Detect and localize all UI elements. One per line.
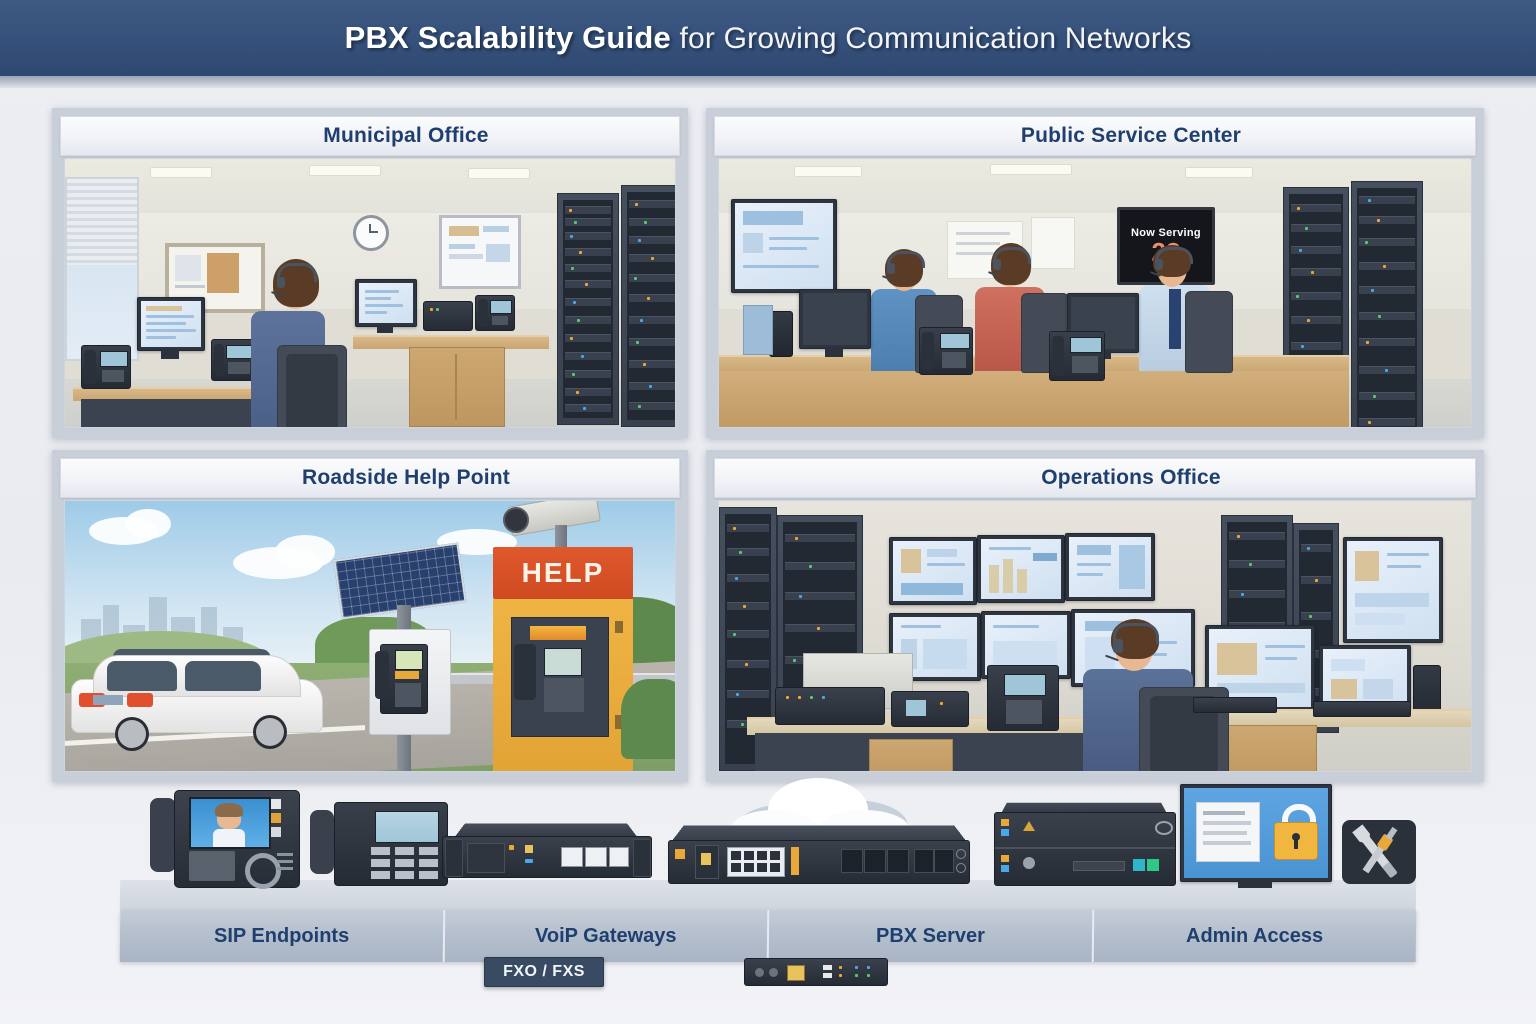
panel-municipal-office-header: Municipal Office (60, 116, 680, 156)
page-header: PBX Scalability Guide for Growing Commun… (0, 0, 1536, 76)
panel-operations-office-title: Operations Office (1041, 466, 1221, 490)
infographic-canvas: PBX Scalability Guide for Growing Commun… (0, 0, 1536, 1024)
operator-ip-phone (987, 665, 1059, 731)
ip-phone (81, 345, 131, 389)
car-taillight (127, 693, 153, 707)
appliance-port (787, 965, 805, 981)
phone-lcd (375, 811, 439, 843)
office-chair (277, 345, 347, 428)
monitor-stand (377, 325, 393, 333)
ceiling-light (990, 164, 1072, 175)
monitor-stand (161, 349, 179, 359)
cloud-icon (125, 509, 171, 539)
help-kiosk-sign: HELP (493, 547, 633, 599)
kiosk-vent (615, 621, 623, 633)
monitor-stand (825, 347, 843, 357)
legend-bar: SIP Endpoints VoiP Gateways PBX Server A… (120, 910, 1417, 962)
page-title-bold: PBX Scalability Guide (345, 20, 671, 55)
desktop-gateway (423, 301, 473, 331)
rack-interior (627, 192, 676, 420)
desktop-gateway (891, 691, 969, 727)
cloud-icon (275, 535, 335, 569)
monitor-screen (893, 541, 973, 601)
gateway-port (585, 847, 607, 867)
pbx-port (914, 849, 934, 873)
desktop-gateway (775, 687, 885, 725)
wall-monitor (1343, 537, 1443, 643)
ceiling-light (1185, 167, 1253, 178)
ip-phone (1049, 331, 1105, 381)
admin-monitor-frame (1180, 784, 1332, 882)
headset-earcup (1155, 259, 1163, 270)
panel-public-service-center-header: Public Service Center (714, 116, 1476, 156)
phone-video-screen (189, 797, 271, 849)
monitor-stand (1238, 880, 1272, 888)
header-underline (0, 76, 1536, 88)
panel-roadside-help-point-header: Roadside Help Point (60, 458, 680, 498)
panel-municipal-office: Municipal Office (52, 108, 688, 438)
legend-item-admin-access[interactable]: Admin Access (1093, 910, 1416, 962)
server-rack (1351, 181, 1423, 428)
ceiling-light (150, 167, 212, 178)
phone-navigation-ring (245, 853, 281, 889)
phone-chassis (334, 802, 448, 886)
warning-icon (1023, 821, 1035, 831)
wall-monitor (977, 535, 1065, 603)
phone-keypad (371, 847, 439, 879)
ip-phone (919, 327, 973, 375)
panel-public-service-center-title: Public Service Center (1021, 124, 1241, 148)
back-monitor (355, 279, 417, 327)
window-blinds (67, 179, 137, 265)
agent-3-necktie (1169, 289, 1181, 349)
kiosk-keypad (544, 678, 584, 712)
kiosk-handset (514, 644, 536, 700)
call-box-phone (380, 644, 428, 714)
office-chair (1185, 291, 1233, 373)
panel-operations-office: Operations Office (706, 450, 1484, 782)
pbx-appliance-small (744, 958, 888, 986)
help-kiosk: HELP (493, 547, 633, 772)
legend-label-sip-endpoints: SIP Endpoints (214, 925, 349, 948)
agent-monitor (799, 289, 871, 349)
keyboard (1193, 697, 1277, 713)
panel-roadside-help-point-title: Roadside Help Point (302, 466, 510, 490)
monitor-screen (1069, 537, 1151, 597)
wall-clock (353, 215, 389, 251)
legend-item-voip-gateways[interactable]: VoiP Gateways (444, 910, 769, 962)
gateway-port (609, 847, 629, 867)
car-rear-window (107, 661, 177, 691)
pbx-port (934, 849, 954, 873)
desk-cabinet (409, 347, 505, 427)
rack-interior (1357, 188, 1417, 428)
admin-server-chassis (994, 812, 1176, 886)
car-wheel (115, 717, 149, 751)
monitor-screen (803, 293, 867, 345)
monitor-screen (981, 539, 1061, 599)
device-row (120, 780, 1416, 885)
panel-operations-office-header: Operations Office (714, 458, 1476, 498)
server-rack (557, 193, 619, 425)
ceiling-light (309, 165, 381, 176)
monitor-screen (359, 283, 413, 323)
wall-poster (439, 215, 521, 289)
server-rack (621, 185, 676, 427)
admin-server (994, 802, 1174, 886)
admin-monitor-screen (1184, 788, 1328, 878)
file-holder (743, 305, 773, 355)
rack-interior (563, 200, 613, 418)
parked-car (71, 635, 321, 753)
pbx-server-appliance (668, 824, 968, 888)
help-kiosk-label: HELP (522, 557, 605, 589)
fxo-fxs-badge-label: FXO / FXS (503, 963, 585, 981)
wrench-screwdriver-icon (1342, 816, 1416, 888)
pbx-ethernet-bank (727, 847, 785, 877)
voip-gateway-appliance (442, 822, 650, 884)
scene-operations-office (718, 500, 1472, 772)
fxo-fxs-badge: FXO / FXS (484, 957, 604, 987)
ip-phone (475, 295, 515, 331)
wall-notice (1031, 217, 1075, 269)
camera-lens (503, 507, 529, 533)
headset-earcup (887, 263, 895, 274)
wall-display-screen (735, 203, 833, 289)
pbx-port (864, 849, 886, 873)
panel-roadside-help-point: Roadside Help Point (52, 450, 688, 782)
workstation-monitor (137, 297, 205, 351)
emergency-call-box (369, 629, 451, 735)
scene-roadside-help-point: HELP (64, 500, 676, 772)
help-kiosk-phone-bay (511, 617, 609, 737)
video-ip-phone (150, 786, 300, 886)
page-title-light: for Growing Communication Networks (671, 22, 1192, 55)
car-wheel (253, 715, 287, 749)
monitor-screen (1347, 541, 1439, 639)
phone-keypad (189, 851, 235, 881)
pbx-port (841, 849, 863, 873)
phone-handset (150, 798, 176, 872)
page-title: PBX Scalability Guide for Growing Commun… (345, 20, 1192, 56)
legend-label-pbx-server: PBX Server (876, 925, 985, 948)
ceiling-light (468, 168, 530, 179)
wall-monitor (1065, 533, 1155, 601)
gateway-port (561, 847, 583, 867)
legend-item-pbx-server[interactable]: PBX Server (769, 910, 1094, 962)
kiosk-display (544, 648, 582, 676)
headset-earcup (277, 277, 285, 288)
standard-ip-phone (310, 802, 450, 888)
panel-municipal-office-title: Municipal Office (323, 124, 488, 148)
phone-chassis (174, 790, 300, 888)
counter-front (719, 371, 1349, 428)
wall-display (731, 199, 837, 293)
phone-handset (310, 810, 334, 874)
headset-earcup (1113, 639, 1123, 653)
document-icon (1196, 802, 1260, 862)
legend-item-sip-endpoints[interactable]: SIP Endpoints (120, 910, 445, 962)
bush (621, 679, 676, 759)
scene-municipal-office (64, 158, 676, 428)
license-plate (93, 695, 123, 705)
headset-earcup (993, 259, 1001, 270)
admin-monitor (1180, 784, 1352, 890)
pbx-chassis (668, 840, 970, 884)
office-window (65, 177, 139, 361)
legend-label-voip-gateways: VoiP Gateways (535, 925, 677, 948)
kiosk-indicator-light (530, 626, 586, 640)
wall-monitor (889, 537, 977, 605)
legend-label-admin-access: Admin Access (1186, 925, 1323, 948)
ceiling-light (794, 166, 862, 177)
gateway-chassis (442, 836, 652, 878)
padlock-icon (1274, 822, 1318, 860)
scene-public-service-center: Now Serving 23 (718, 158, 1472, 428)
car-side-window (185, 661, 261, 691)
pbx-port (887, 849, 909, 873)
desk-drawer (869, 739, 953, 772)
panel-public-service-center: Public Service Center (706, 108, 1484, 438)
power-icon (1023, 857, 1035, 869)
monitor-screen (141, 301, 201, 347)
keyboard (1313, 701, 1411, 717)
